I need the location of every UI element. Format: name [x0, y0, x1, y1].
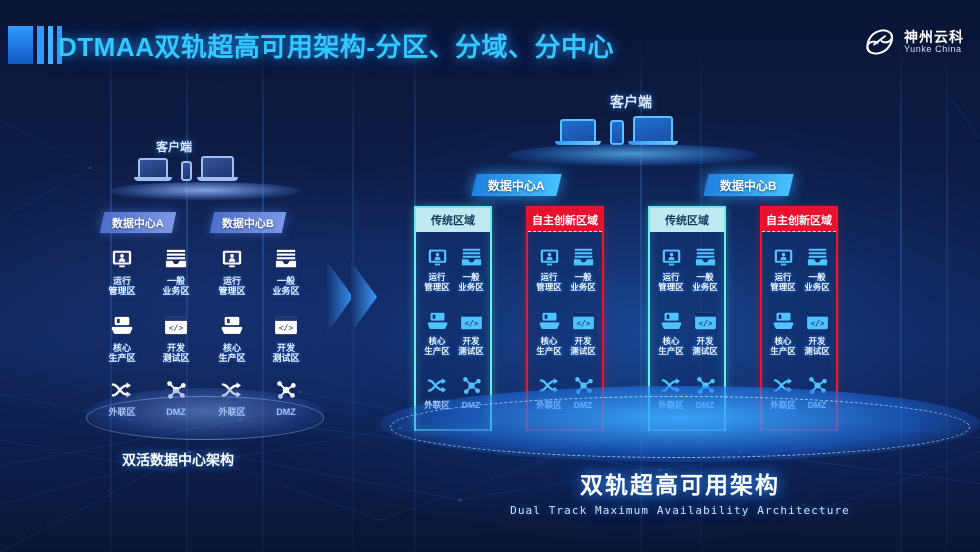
left-a-zone-core[interactable]: 核心生产区 [98, 312, 146, 364]
svg-text:</>: </> [169, 323, 184, 333]
left-diagram-caption: 双活数据中心架构 [122, 450, 234, 470]
left-dc-badge-a-label: 数据中心A [112, 215, 164, 231]
code-window-icon: </> [565, 308, 601, 334]
dc-b-trad-zone-general[interactable]: 一般业务区 [687, 244, 723, 292]
spiral-logo-icon [863, 26, 897, 58]
right-client-devices [560, 116, 678, 145]
monitor-user-icon [765, 244, 801, 270]
dc-a-trad-zone-core[interactable]: 核心生产区 [419, 308, 455, 356]
dc-a-trad-zone-ops[interactable]: 运行管理区 [419, 244, 455, 292]
left-b-zone-ops-label: 运行管理区 [208, 276, 256, 297]
code-window-icon: </> [453, 308, 489, 334]
logo-name-en: Yunke China [904, 45, 964, 54]
svg-text:</>: </> [810, 318, 824, 327]
dc-a-trad-zone-dev[interactable]: </> 开发测试区 [453, 308, 489, 356]
laptop-icon [201, 156, 238, 181]
dc-a-trad-zone-general[interactable]: 一般业务区 [453, 244, 489, 292]
right-dc-badge-b[interactable]: 数据中心B [703, 174, 793, 196]
right-caption-cn: 双轨超高可用架构 [400, 466, 960, 500]
left-dc-badge-b[interactable]: 数据中心B [210, 212, 286, 233]
left-client-label: 客户端 [156, 138, 192, 155]
dc-b-inno-zone-ops[interactable]: 运行管理区 [765, 244, 801, 292]
left-architecture-diagram: 客户端 数据中心A 数据中心B 运行管理区 [80, 120, 330, 480]
monitor-user-icon [98, 245, 146, 273]
dc-b-inno-zone-general[interactable]: 一般业务区 [799, 244, 835, 292]
transition-arrow [325, 255, 395, 340]
dc-a-inno-zone-ops[interactable]: 运行管理区 [531, 244, 567, 292]
page-title: DTMAA双轨超高可用架构-分区、分域、分中心 [58, 27, 614, 64]
logo-name-cn: 神州云科 [904, 30, 964, 45]
dc-b-inno-zone-core[interactable]: 核心生产区 [765, 308, 801, 356]
dc-b-region-traditional-title: 传统区域 [650, 208, 724, 232]
monitor-user-icon [419, 244, 455, 270]
right-architecture-diagram: 客户端 数据中心A 数据中心B 传统区域 运行管理区 [400, 78, 960, 498]
brand-logo: 神州云科 Yunke China [863, 26, 964, 58]
right-dc-badge-a-label: 数据中心A [488, 177, 545, 194]
slide-header: DTMAA双轨超高可用架构-分区、分域、分中心 神州云科 Yunke China [0, 0, 980, 88]
left-a-zone-dev[interactable]: </> 开发测试区 [152, 312, 200, 364]
phone-icon [610, 120, 624, 145]
svg-text:</>: </> [279, 323, 294, 333]
monitor-user-icon [653, 244, 689, 270]
layers-tray-icon [687, 244, 723, 270]
left-b-zone-dev[interactable]: </> 开发测试区 [262, 312, 310, 364]
dc-a-inno-zone-general[interactable]: 一般业务区 [565, 244, 601, 292]
left-a-zone-ops[interactable]: 运行管理区 [98, 245, 146, 297]
layers-tray-icon [152, 245, 200, 273]
code-window-icon: </> [799, 308, 835, 334]
dc-a-region-innovation-title: 自主创新区域 [528, 208, 602, 232]
left-base-platform-rim [86, 396, 324, 440]
left-a-zone-ops-label: 运行管理区 [98, 276, 146, 297]
dc-b-trad-zone-dev[interactable]: </> 开发测试区 [687, 308, 723, 356]
left-a-zone-dev-label: 开发测试区 [152, 343, 200, 364]
layers-tray-icon [565, 244, 601, 270]
left-b-zone-general[interactable]: 一般业务区 [262, 245, 310, 297]
laptop-icon [633, 116, 678, 145]
layers-tray-icon [453, 244, 489, 270]
dc-b-trad-zone-core[interactable]: 核心生产区 [653, 308, 689, 356]
left-a-zone-core-label: 核心生产区 [98, 343, 146, 364]
network-nodes-icon [453, 372, 489, 398]
right-dc-badge-a[interactable]: 数据中心A [471, 174, 561, 196]
server-core-icon [765, 308, 801, 334]
left-a-zone-general-label: 一般业务区 [152, 276, 200, 297]
svg-text:</>: </> [576, 318, 590, 327]
dc-b-region-innovation-title: 自主创新区域 [762, 208, 836, 232]
dc-a-inno-zone-dev[interactable]: </> 开发测试区 [565, 308, 601, 356]
server-core-icon [208, 312, 256, 340]
svg-text:</>: </> [698, 318, 712, 327]
right-dc-badge-b-label: 数据中心B [720, 177, 777, 194]
code-window-icon: </> [687, 308, 723, 334]
left-client-devices [138, 156, 238, 181]
layers-tray-icon [799, 244, 835, 270]
dc-b-trad-zone-ops[interactable]: 运行管理区 [653, 244, 689, 292]
left-b-zone-ops[interactable]: 运行管理区 [208, 245, 256, 297]
code-window-icon: </> [262, 312, 310, 340]
monitor-user-icon [531, 244, 567, 270]
left-dc-badge-b-label: 数据中心B [222, 215, 274, 231]
right-base-platform-ring [390, 396, 970, 458]
laptop-icon [560, 119, 601, 145]
dc-a-inno-zone-core[interactable]: 核心生产区 [531, 308, 567, 356]
dc-a-region-traditional-title: 传统区域 [416, 208, 490, 232]
svg-text:</>: </> [464, 318, 478, 327]
routing-arrows-icon [419, 372, 455, 398]
server-core-icon [531, 308, 567, 334]
server-core-icon [653, 308, 689, 334]
left-b-zone-general-label: 一般业务区 [262, 276, 310, 297]
right-diagram-caption: 双轨超高可用架构 Dual Track Maximum Availability… [400, 466, 960, 517]
right-client-platform [508, 144, 758, 166]
code-window-icon: </> [152, 312, 200, 340]
left-a-zone-general[interactable]: 一般业务区 [152, 245, 200, 297]
slide-canvas: DTMAA双轨超高可用架构-分区、分域、分中心 神州云科 Yunke China… [0, 0, 980, 552]
left-dc-badge-a[interactable]: 数据中心A [100, 212, 176, 233]
monitor-user-icon [208, 245, 256, 273]
double-chevron-right-icon [325, 255, 395, 340]
server-core-icon [98, 312, 146, 340]
left-b-zone-dev-label: 开发测试区 [262, 343, 310, 364]
right-client-label: 客户端 [610, 92, 652, 112]
left-b-zone-core[interactable]: 核心生产区 [208, 312, 256, 364]
laptop-icon [138, 158, 172, 181]
dc-b-inno-zone-dev[interactable]: </> 开发测试区 [799, 308, 835, 356]
header-bars-icon [8, 26, 62, 64]
left-b-zone-core-label: 核心生产区 [208, 343, 256, 364]
left-client-platform [110, 182, 300, 200]
right-caption-en: Dual Track Maximum Availability Architec… [400, 504, 960, 517]
server-core-icon [419, 308, 455, 334]
layers-tray-icon [262, 245, 310, 273]
phone-icon [181, 161, 192, 181]
